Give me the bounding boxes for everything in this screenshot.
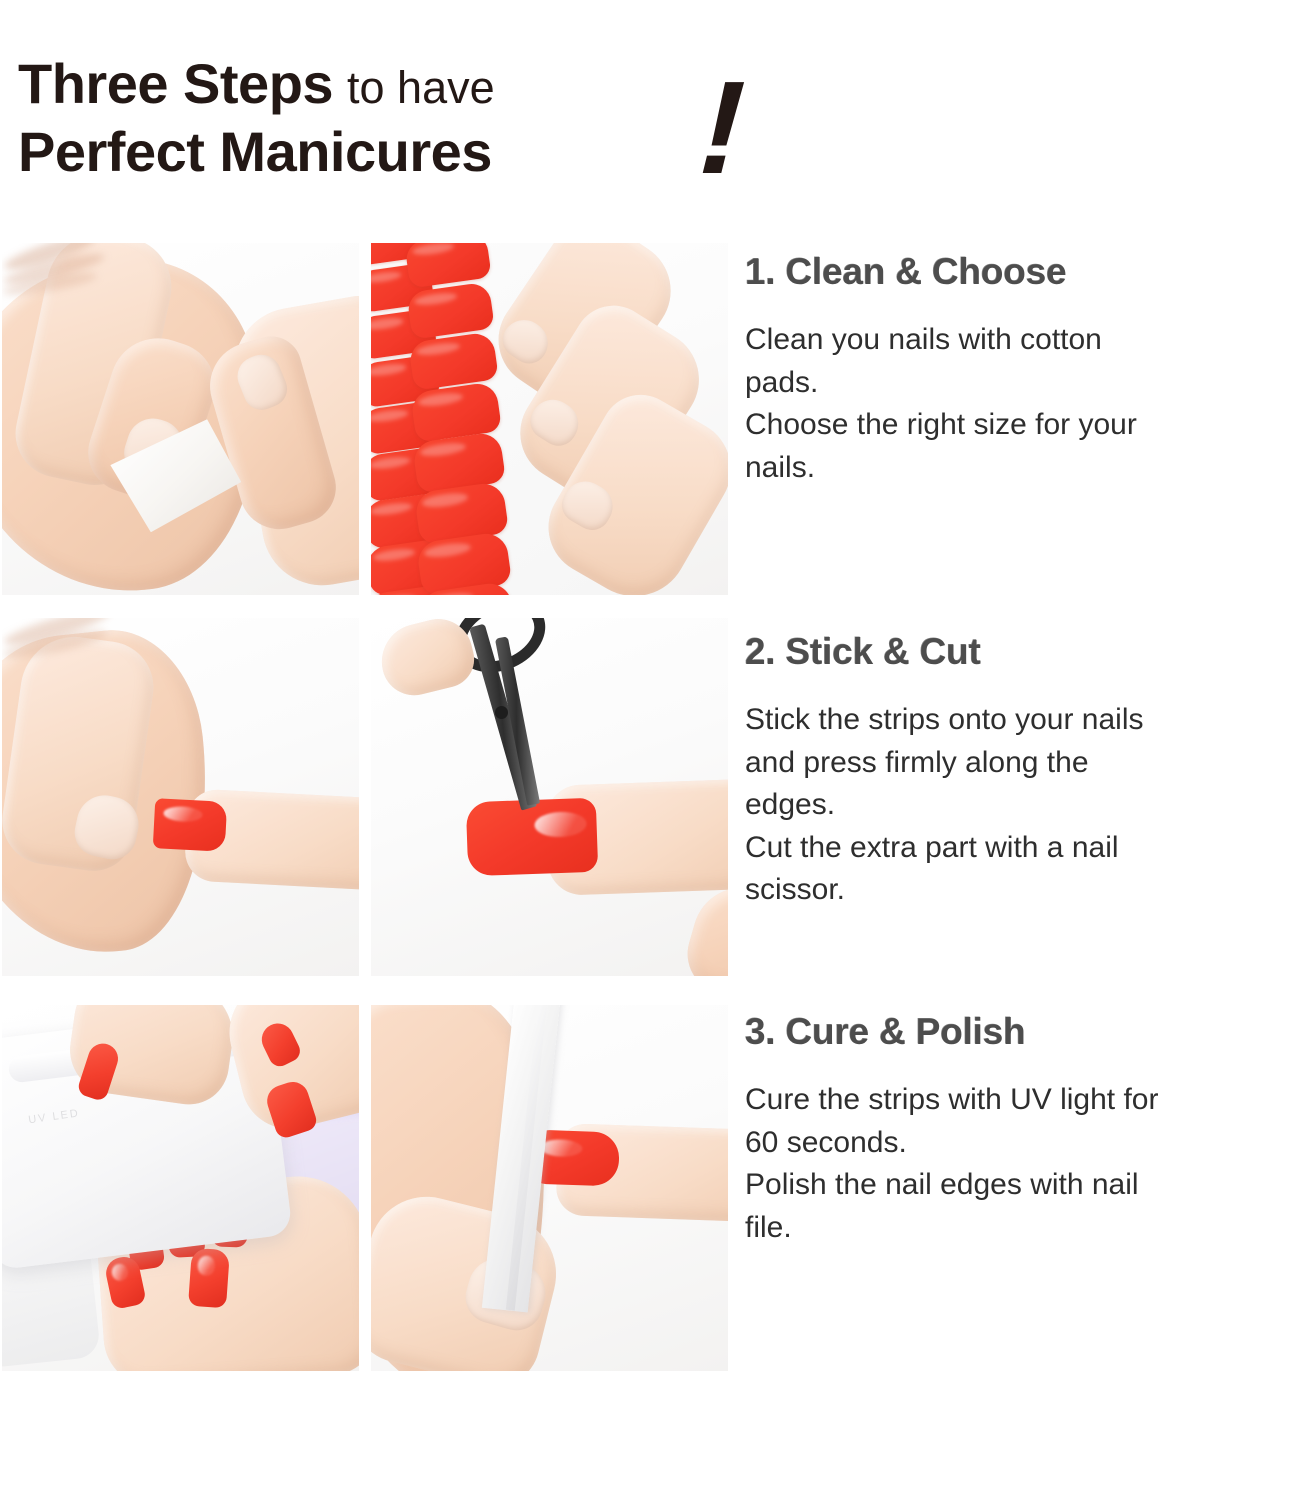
photo-cut-with-scissors — [371, 618, 728, 976]
gloss-highlight — [163, 806, 203, 823]
step-2-line-5: scissor. — [745, 869, 1297, 912]
step-1-heading: 1. Clean & Choose — [745, 251, 1297, 293]
red-nail — [188, 1248, 230, 1309]
step-3-body: Cure the strips with UV light for 60 sec… — [745, 1079, 1297, 1249]
photo-strip-sheet-and-nails — [371, 243, 728, 595]
step-2-body: Stick the strips onto your nails and pre… — [745, 699, 1297, 912]
photo-uv-lamp-curing: UV LED — [2, 1005, 359, 1371]
step-2-line-4: Cut the extra part with a nail — [745, 827, 1297, 870]
step-2-line-2: and press firmly along the — [745, 742, 1297, 785]
title-line-1: Three Steps to have — [18, 56, 798, 112]
photo-2-scene — [371, 243, 728, 595]
fingers-group — [371, 243, 728, 595]
gloss-highlight — [110, 1262, 129, 1282]
step-1-line-4: nails. — [745, 447, 1297, 490]
holding-fingertip — [374, 618, 480, 702]
photo-4-scene — [371, 618, 728, 976]
photo-grid: UV LED — [2, 243, 728, 1371]
photo-5-scene: UV LED — [2, 1005, 359, 1371]
red-strip-on-nail — [153, 798, 228, 852]
page-title: Three Steps to have Perfect Manicures — [18, 56, 798, 206]
photo-1-scene — [2, 243, 359, 595]
title-strong-1: Three Steps — [18, 52, 333, 115]
exclamation-mark: ! — [697, 62, 748, 194]
step-1-line-2: pads. — [745, 362, 1297, 405]
step-3-line-4: file. — [745, 1207, 1297, 1250]
step-1-line-3: Choose the right size for your — [745, 404, 1297, 447]
step-3-line-2: 60 seconds. — [745, 1122, 1297, 1165]
step-2-line-1: Stick the strips onto your nails — [745, 699, 1297, 742]
photo-polish-with-nail-file — [371, 1005, 728, 1371]
red-nail-with-excess — [466, 798, 599, 876]
step-1: 1. Clean & Choose Clean you nails with c… — [745, 251, 1297, 489]
gloss-highlight — [534, 811, 587, 838]
step-3: 3. Cure & Polish Cure the strips with UV… — [745, 1011, 1297, 1249]
step-2: 2. Stick & Cut Stick the strips onto you… — [745, 631, 1297, 912]
photo-6-scene — [371, 1005, 728, 1371]
step-2-heading: 2. Stick & Cut — [745, 631, 1297, 673]
title-strong-2: Perfect Manicures — [18, 120, 492, 183]
step-1-line-1: Clean you nails with cotton — [745, 319, 1297, 362]
step-3-line-1: Cure the strips with UV light for — [745, 1079, 1297, 1122]
step-2-line-3: edges. — [745, 784, 1297, 827]
gloss-highlight — [197, 1255, 216, 1276]
photo-clean-with-cotton-pad — [2, 243, 359, 595]
photo-3-scene — [2, 618, 359, 976]
step-3-line-3: Polish the nail edges with nail — [745, 1164, 1297, 1207]
title-light-1: to have — [347, 62, 495, 113]
step-3-heading: 3. Cure & Polish — [745, 1011, 1297, 1053]
scissor-pivot-screw — [495, 706, 508, 719]
photo-stick-strip-on-nail — [2, 618, 359, 976]
step-1-body: Clean you nails with cotton pads. Choose… — [745, 319, 1297, 489]
title-line-2: Perfect Manicures — [18, 124, 798, 180]
gloss-highlight — [540, 1138, 583, 1157]
